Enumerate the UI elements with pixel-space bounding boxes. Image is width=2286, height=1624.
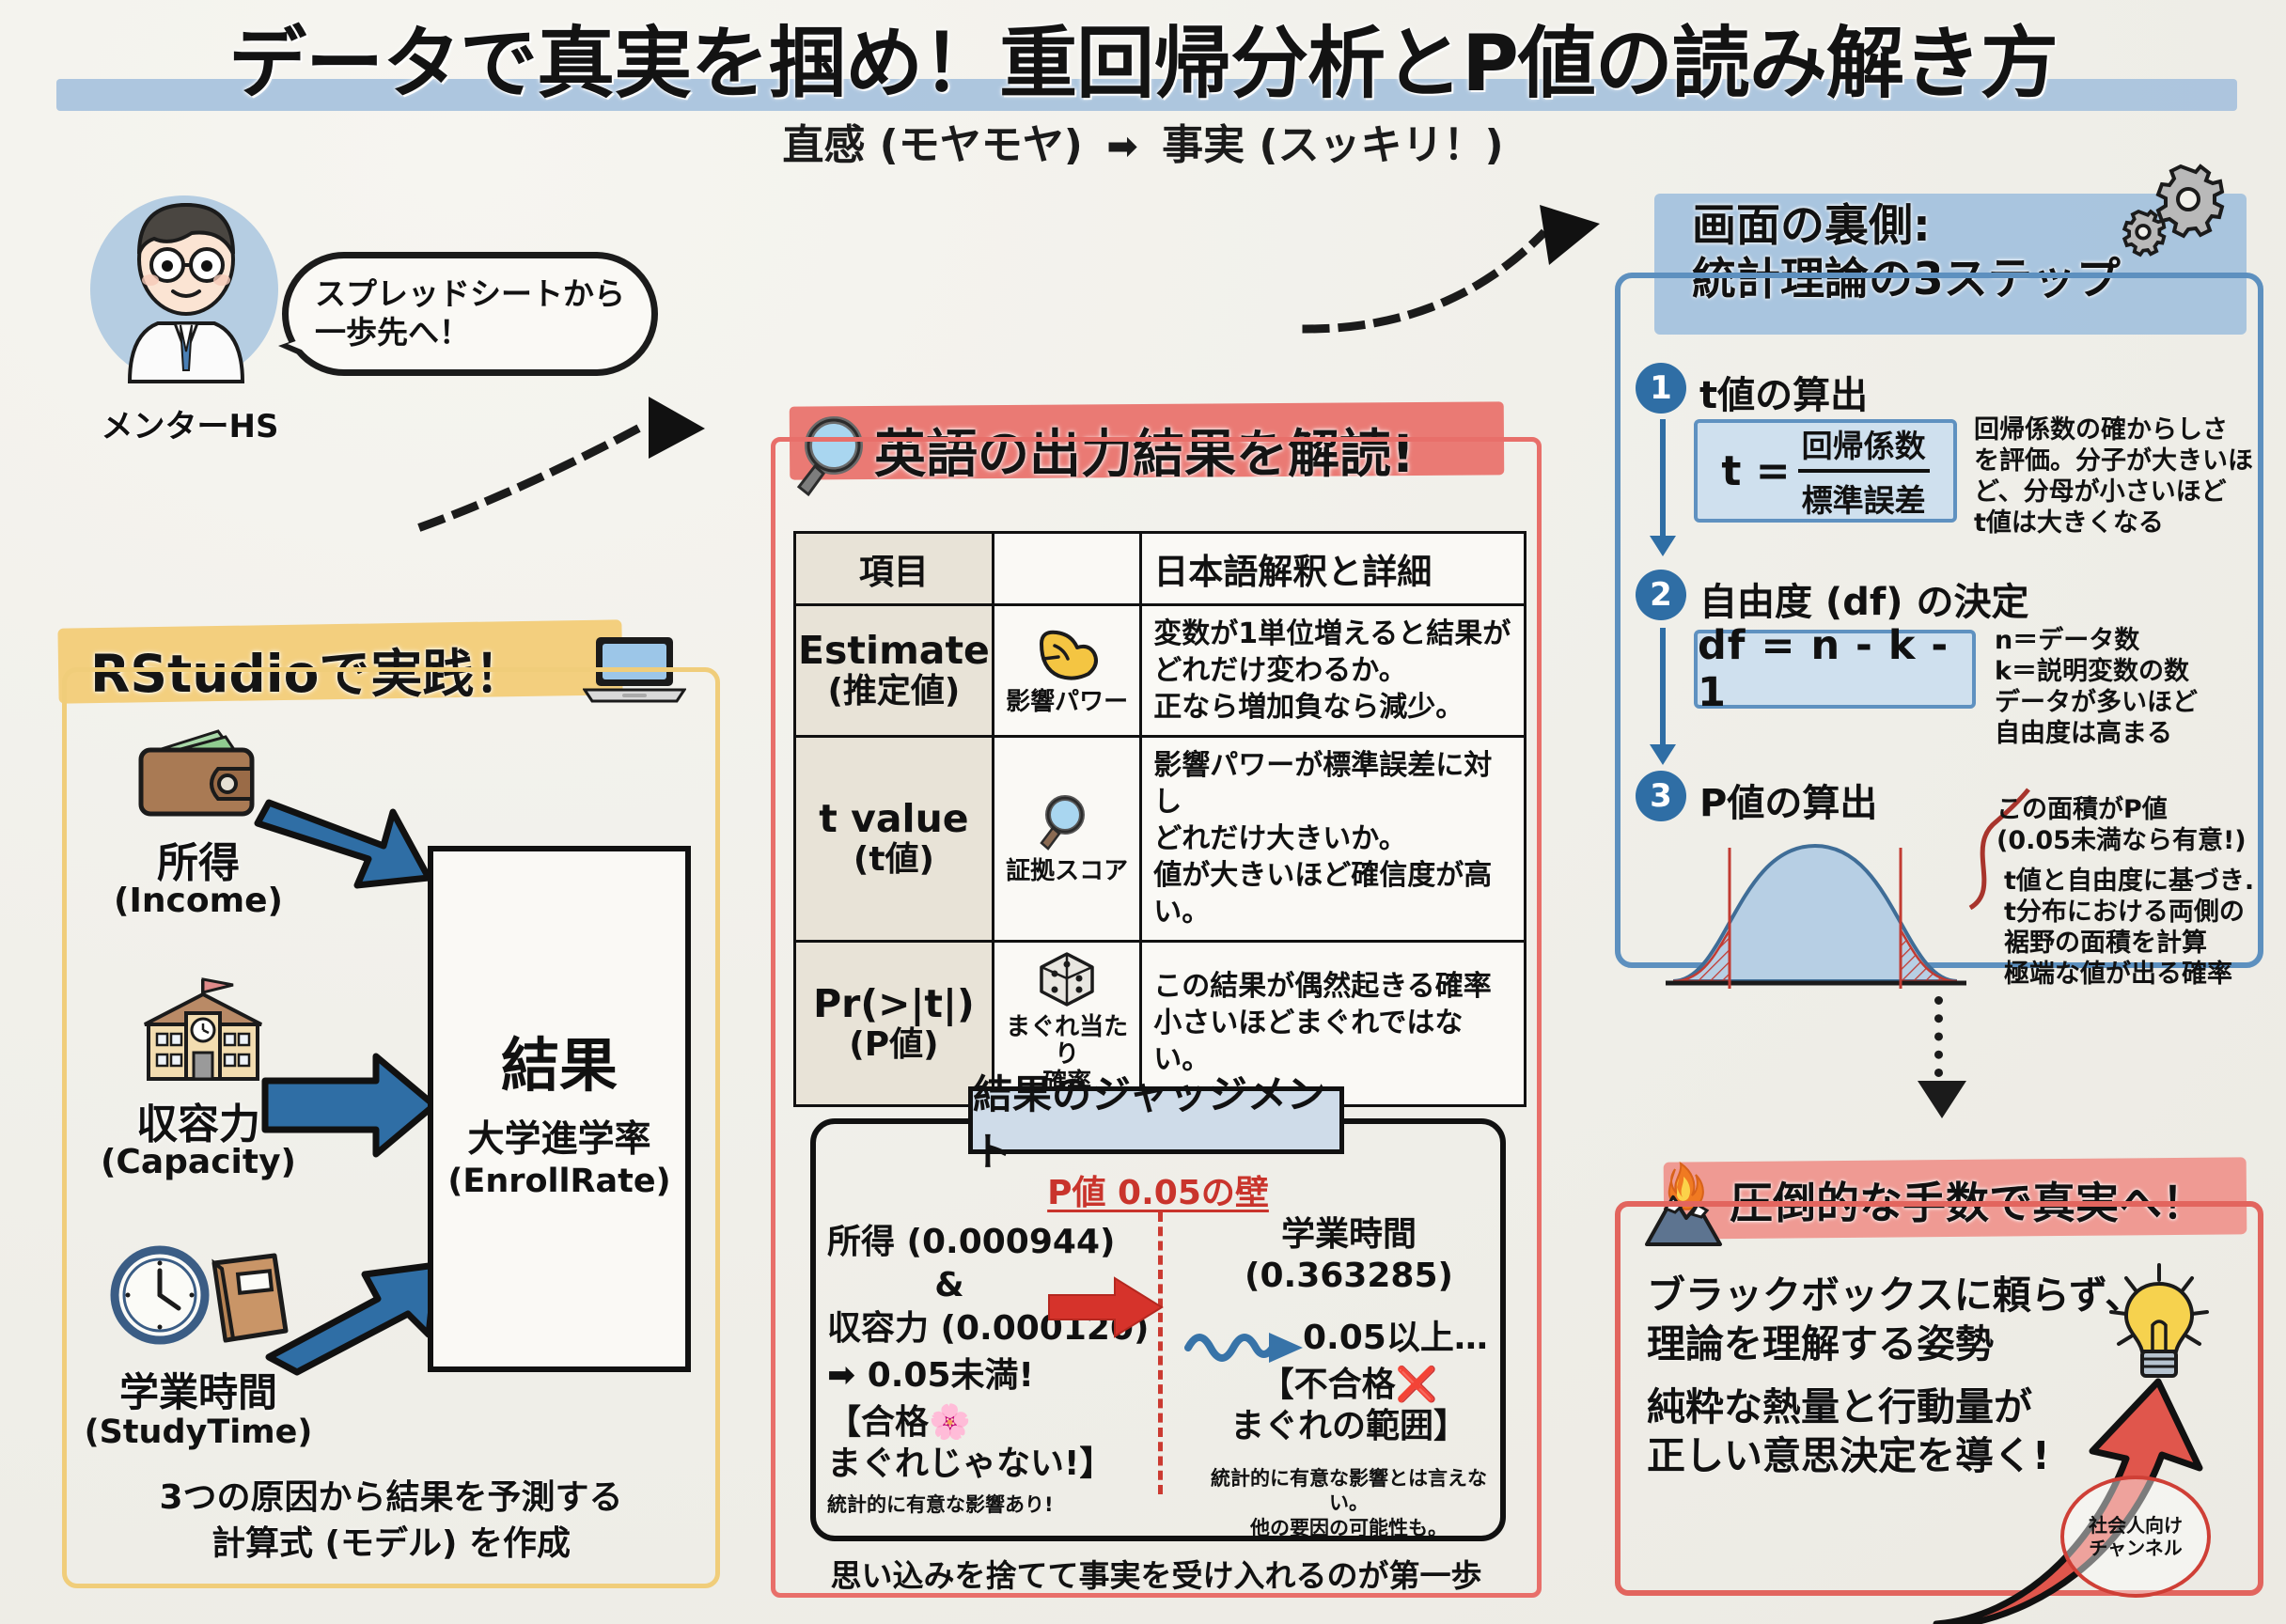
dashed-connector-left [414, 348, 771, 545]
mentor-label: メンターHS [68, 400, 312, 446]
judgment-right-note-2: 他の要因の可能性も。 [1194, 1516, 1504, 1540]
step-2-note-4: 自由度は高まる [1995, 719, 2267, 750]
step-3-detail-1: t値と自由度に基づき. [2004, 867, 2286, 898]
subtitle-left: 直感 (モヤモヤ) [782, 121, 1083, 169]
speech-line-1: スプレッドシートから [315, 275, 625, 314]
result-title: 結果 [501, 1018, 618, 1102]
tvalue-desc-1: 影響パワーが標準誤差に対し [1153, 747, 1512, 820]
formula-numerator: 回帰係数 [1798, 421, 1930, 473]
step-1-note-2: を評価。分子が大きいほ [1974, 446, 2256, 477]
left-caption-line-1: 3つの原因から結果を予測する [71, 1476, 711, 1522]
judgment-right-pvalue: (0.363285) [1194, 1256, 1504, 1297]
estimate-term-jp: (推定値) [798, 672, 990, 710]
judgment-right-item1: 学業時間 (0.363285) [1194, 1214, 1504, 1297]
subtitle-arrow-icon: ➡ [1097, 125, 1148, 168]
arrow-studytime-to-result [259, 1246, 447, 1378]
step-3-title: P値の算出 [1699, 773, 1981, 827]
estimate-icon-label: 影響パワー [996, 689, 1137, 716]
step-2-to-3-arrow-line [1660, 628, 1666, 746]
tvalue-term-en: t value [798, 798, 990, 840]
subtitle: 直感 (モヤモヤ) ➡ 事実 (スッキリ！) [0, 111, 2286, 171]
dashed-connector-right [1297, 179, 1636, 348]
table-header-description: 日本語解釈と詳細 [1141, 533, 1526, 605]
step-3-detail-2: t分布における両側の [2004, 898, 2286, 929]
rising-red-arrow-icon [1918, 1353, 2237, 1624]
tvalue-term-jp: (t値) [798, 840, 990, 879]
step-1-note: 回帰係数の確からしさ を評価。分子が大きいほ ど、分母が小さいほど t値は大きく… [1974, 415, 2256, 539]
judgment-title-text: 結果のジャッジメント [973, 1063, 1339, 1178]
gear-icon [2117, 162, 2239, 274]
step-3-note-1: この面積がP値 [1996, 795, 2278, 826]
wallet-icon [128, 724, 269, 827]
result-jp: 大学進学率 [467, 1110, 650, 1163]
mentor-face-icon [102, 194, 271, 396]
page-title: データで真実を掴め！重回帰分析とP値の読み解き方 [0, 0, 2286, 113]
arrow-income-to-result [252, 788, 440, 910]
left-panel-caption: 3つの原因から結果を予測する 計算式 (モデル) を作成 [71, 1476, 711, 1567]
judgment-left-note-text: 統計的に有意な影響あり! [827, 1492, 1156, 1517]
df-formula: df = n - k - 1 [1694, 630, 1976, 709]
estimate-desc-1: 変数が1単位増えると結果が [1153, 616, 1512, 652]
formula-denominator: 標準誤差 [1798, 473, 1930, 521]
muscle-icon [1030, 625, 1104, 683]
judgment-left-badge-2: まぐれじゃない!】 [827, 1444, 1156, 1485]
judgment-left-badge: 【合格🌸 まぐれじゃない!】 [827, 1402, 1156, 1485]
step-3-detail-4: 極端な値が出る確率 [2004, 960, 2286, 991]
estimate-desc-2: どれだけ変わるか。 [1153, 652, 1512, 689]
table-row: t value (t値) 証拠スコア 影響パワーが標準誤差に対し どれだけ大きい… [795, 737, 1526, 942]
speech-line-2: 一歩先へ！ [315, 314, 625, 352]
panel-connector-arrow [1918, 1081, 1966, 1118]
judgment-left-income: 所得 (0.000944) [827, 1222, 1156, 1263]
infographic-root: データで真実を掴め！重回帰分析とP値の読み解き方 直感 (モヤモヤ) ➡ 事実 … [0, 0, 2286, 1624]
tvalue-desc-3: 値が大きいほど確信度が高い。 [1153, 857, 1512, 930]
center-panel-caption: 思い込みを捨てて事実を受け入れるのが第一歩 [771, 1551, 1542, 1596]
judgment-right-studytime: 学業時間 [1194, 1214, 1504, 1256]
row-tvalue-icon-cell: 証拠スコア [993, 737, 1140, 942]
formula-lhs: t = [1721, 447, 1790, 495]
judgment-right-verdict: 0.05以上… [1303, 1318, 1519, 1359]
step-3-detail-3: 裾野の面積を計算 [2004, 929, 2286, 960]
pvalue-icon-label-1: まぐれ当たり [996, 1014, 1137, 1068]
judgment-right-badge: 【不合格❌ まぐれの範囲】 [1194, 1365, 1504, 1447]
df-formula-text: df = n - k - 1 [1698, 622, 1972, 716]
step-2-note-1: n＝データ数 [1995, 626, 2267, 657]
channel-line-2: チャンネル [2089, 1537, 2182, 1559]
step-2-title: 自由度 (df) の決定 [1699, 571, 2113, 626]
dice-icon [1036, 950, 1098, 1008]
step-1-title: t値の算出 [1699, 365, 2075, 419]
t-value-formula: t = 回帰係数 標準誤差 [1694, 419, 1957, 523]
row-estimate-description: 変数が1単位増えると結果が どれだけ変わるか。 正なら増加負なら減少。 [1141, 605, 1526, 737]
step-2-note-3: データが多いほど [1995, 688, 2267, 719]
step-1-to-2-arrow-head [1650, 536, 1676, 556]
judgment-left-verdict: ➡ 0.05未満! [827, 1355, 1156, 1397]
pvalue-term-jp: (P値) [798, 1025, 990, 1064]
judgment-right-note-1: 統計的に有意な影響とは言えない。 [1194, 1466, 1504, 1516]
step-1-note-4: t値は大きくなる [1974, 508, 2256, 539]
row-estimate-term: Estimate (推定値) [795, 605, 994, 737]
row-tvalue-term: t value (t値) [795, 737, 994, 942]
conclusion-line-1: ブラックボックスに頼らず、 [1647, 1271, 2173, 1319]
row-tvalue-description: 影響パワーが標準誤差に対し どれだけ大きいか。 値が大きいほど確信度が高い。 [1141, 737, 1526, 942]
tvalue-desc-2: どれだけ大きいか。 [1153, 820, 1512, 857]
wavy-arrow-icon [1184, 1321, 1307, 1370]
estimate-desc-3: 正なら増加負なら減少。 [1153, 689, 1512, 726]
judgment-right-note: 統計的に有意な影響とは言えない。 他の要因の可能性も。 [1194, 1466, 1504, 1540]
judgment-right-badge-2: まぐれの範囲】 [1194, 1406, 1504, 1447]
table-header-row: 項目 日本語解釈と詳細 [795, 533, 1526, 605]
result-box: 結果 大学進学率 (EnrollRate) [428, 846, 691, 1372]
step-1-number: 1 [1636, 363, 1686, 414]
red-arrow-icon [1045, 1274, 1167, 1340]
table-header-item: 項目 [795, 533, 994, 605]
step-3-detail-note: t値と自由度に基づき. t分布における両側の 裾野の面積を計算 極端な値が出る確… [2004, 867, 2286, 991]
judgment-title: 結果のジャッジメント [968, 1086, 1344, 1154]
table-header-icon-col [993, 533, 1140, 605]
result-en: (EnrollRate) [447, 1163, 670, 1200]
judgment-left-note: 統計的に有意な影響あり! [827, 1492, 1156, 1517]
step-2-note-2: k＝説明変数の数 [1995, 657, 2267, 688]
tvalue-icon-label: 証拠スコア [996, 858, 1137, 885]
magnifier-icon [1033, 792, 1101, 852]
judgment-right-badge-1: 【不合格❌ [1194, 1365, 1504, 1406]
row-estimate-icon-cell: 影響パワー [993, 605, 1140, 737]
judgment-left-verdict-text: ➡ 0.05未満! [827, 1355, 1156, 1397]
row-pvalue-term: Pr(>|t|) (P値) [795, 942, 994, 1106]
step-2-to-3-arrow-head [1650, 744, 1676, 765]
pvalue-term-en: Pr(>|t|) [798, 983, 990, 1025]
t-distribution-curve-icon [1660, 827, 1970, 1006]
step-2-note: n＝データ数 k＝説明変数の数 データが多いほど 自由度は高まる [1995, 626, 2267, 750]
step-1-note-1: 回帰係数の確からしさ [1974, 415, 2256, 446]
channel-badge: 社会人向け チャンネル [2060, 1476, 2211, 1598]
output-terms-table: 項目 日本語解釈と詳細 Estimate (推定値) 影響パワー 変数が1単位増… [793, 531, 1527, 1107]
table-row: Estimate (推定値) 影響パワー 変数が1単位増えると結果が どれだけ変… [795, 605, 1526, 737]
step-3-pvalue-note: この面積がP値 (0.05未満なら有意!) [1996, 795, 2278, 857]
left-caption-line-2: 計算式 (モデル) を作成 [71, 1522, 711, 1568]
step-3-number: 3 [1636, 771, 1686, 821]
step-2-number: 2 [1636, 570, 1686, 620]
arrow-capacity-to-result [256, 1051, 444, 1163]
subtitle-right: 事実 (スッキリ！) [1162, 121, 1504, 169]
judgment-left-item1: 所得 (0.000944) [827, 1222, 1156, 1263]
speech-tail-fill [288, 333, 320, 357]
step-1-to-2-arrow-line [1660, 419, 1666, 538]
channel-line-1: 社会人向け [2089, 1514, 2183, 1537]
judgment-left-badge-1: 【合格🌸 [827, 1402, 1156, 1444]
estimate-term-en: Estimate [798, 630, 990, 672]
panel-connector-line [1934, 996, 1943, 1077]
step-1-note-3: ど、分母が小さいほど [1974, 477, 2256, 508]
p-value-threshold-divider [1158, 1212, 1163, 1494]
judgment-right-verdict-text: 0.05以上… [1303, 1318, 1519, 1359]
step-3-note-2: (0.05未満なら有意!) [1996, 826, 2278, 857]
variable-studytime-en: (StudyTime) [57, 1413, 339, 1451]
title-block: データで真実を掴め！重回帰分析とP値の読み解き方 [0, 0, 2286, 113]
pvalue-desc-1: この結果が偶然起きる確率 [1153, 968, 1512, 1005]
